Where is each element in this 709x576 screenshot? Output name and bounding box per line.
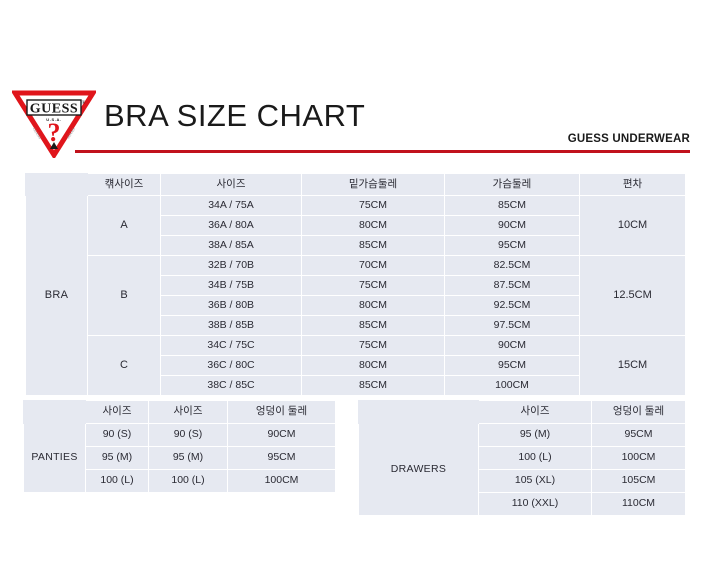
size-cell: 36A / 80A [161,216,302,236]
table-header-row: 사이즈엉덩이 둘레 [359,401,686,424]
bust-cell: 90CM [445,336,580,356]
bust-cell: 82.5CM [445,256,580,276]
deviation-cell: 12.5CM [580,256,686,336]
size-cell: 95 (M) [86,447,149,470]
size-cell: 100 (L) [479,447,592,470]
deviation-cell: 10CM [580,196,686,256]
size-cell: 38C / 85C [161,376,302,396]
header-divider [75,150,690,153]
corner-cell [24,401,86,424]
underbust-cell: 80CM [302,216,445,236]
column-header: 컊사이즈 [88,174,161,196]
size-cell: 105 (XL) [479,470,592,493]
bust-cell: 92.5CM [445,296,580,316]
table-row: BRAA34A / 75A75CM85CM10CM [26,196,686,216]
column-header: 사이즈 [149,401,228,424]
size-cell: 34B / 75B [161,276,302,296]
column-header: 사이즈 [86,401,149,424]
bust-cell: 85CM [445,196,580,216]
size-cell: 95 (M) [149,447,228,470]
guess-logo: GUESS ® U.S.A. ? GUESS JEANS [12,90,96,158]
brand-tag: GUESS UNDERWEAR [568,133,690,145]
hip-cell: 110CM [592,493,686,516]
bust-cell: 95CM [445,356,580,376]
hip-cell: 100CM [228,470,336,493]
column-header: 밑가슴둘레 [302,174,445,196]
table-row: PANTIES90 (S)90 (S)90CM [24,424,336,447]
hip-cell: 100CM [592,447,686,470]
bust-cell: 95CM [445,236,580,256]
page-title: BRA SIZE CHART [104,98,365,134]
row-label-panties: PANTIES [24,424,86,493]
corner-cell [359,401,479,424]
bust-cell: 97.5CM [445,316,580,336]
bust-cell: 90CM [445,216,580,236]
panties-size-table: 사이즈사이즈엉덩이 둘레PANTIES90 (S)90 (S)90CM95 (M… [23,400,336,493]
underbust-cell: 80CM [302,296,445,316]
row-label-drawers: DRAWERS [359,424,479,516]
size-cell: 38A / 85A [161,236,302,256]
size-cell: 36B / 80B [161,296,302,316]
hip-cell: 105CM [592,470,686,493]
size-cell: 34C / 75C [161,336,302,356]
hip-cell: 95CM [228,447,336,470]
svg-text:®: ® [82,100,86,106]
underbust-cell: 70CM [302,256,445,276]
corner-cell [26,174,88,196]
underbust-cell: 80CM [302,356,445,376]
drawers-size-table: 사이즈엉덩이 둘레DRAWERS95 (M)95CM100 (L)100CM10… [358,400,686,516]
table-header-row: 컊사이즈사이즈밑가슴둘레가슴둘레편차 [26,174,686,196]
column-header: 엉덩이 둘레 [592,401,686,424]
underbust-cell: 85CM [302,316,445,336]
size-cell: 100 (L) [149,470,228,493]
column-header: 가슴둘레 [445,174,580,196]
bust-cell: 100CM [445,376,580,396]
column-header: 사이즈 [161,174,302,196]
bust-cell: 87.5CM [445,276,580,296]
hip-cell: 90CM [228,424,336,447]
row-label-bra: BRA [26,196,88,396]
table-row: DRAWERS95 (M)95CM [359,424,686,447]
page-header: GUESS ® U.S.A. ? GUESS JEANS BRA SIZE CH… [0,90,709,160]
size-cell: 95 (M) [479,424,592,447]
underbust-cell: 75CM [302,196,445,216]
size-cell: 34A / 75A [161,196,302,216]
column-header: 편차 [580,174,686,196]
bra-size-table: 컊사이즈사이즈밑가슴둘레가슴둘레편차BRAA34A / 75A75CM85CM1… [25,173,686,396]
size-cell: 100 (L) [86,470,149,493]
size-cell: 90 (S) [86,424,149,447]
column-header: 엉덩이 둘레 [228,401,336,424]
size-cell: 36C / 80C [161,356,302,376]
table-row: B32B / 70B70CM82.5CM12.5CM [26,256,686,276]
deviation-cell: 15CM [580,336,686,396]
table-header-row: 사이즈사이즈엉덩이 둘레 [24,401,336,424]
size-cell: 90 (S) [149,424,228,447]
underbust-cell: 75CM [302,276,445,296]
size-cell: 32B / 70B [161,256,302,276]
column-header: 사이즈 [479,401,592,424]
svg-text:GUESS: GUESS [30,102,78,117]
underbust-cell: 85CM [302,236,445,256]
cup-size-cell: A [88,196,161,256]
cup-size-cell: C [88,336,161,396]
size-cell: 38B / 85B [161,316,302,336]
underbust-cell: 85CM [302,376,445,396]
table-row: C34C / 75C75CM90CM15CM [26,336,686,356]
underbust-cell: 75CM [302,336,445,356]
cup-size-cell: B [88,256,161,336]
size-cell: 110 (XXL) [479,493,592,516]
hip-cell: 95CM [592,424,686,447]
